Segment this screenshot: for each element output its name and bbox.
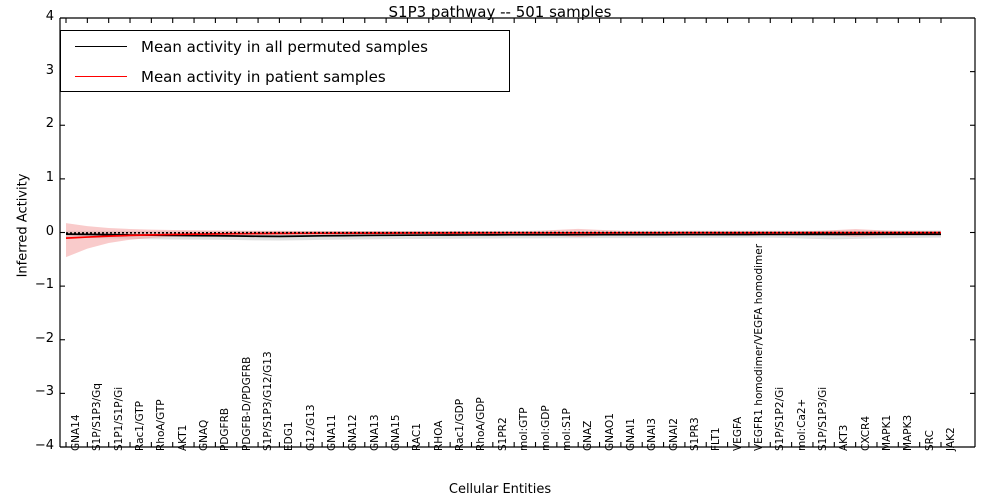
legend-label-patient: Mean activity in patient samples (141, 68, 386, 86)
confidence-band-patient (66, 223, 941, 257)
legend-item-permuted: Mean activity in all permuted samples (61, 31, 509, 62)
legend-label-permuted: Mean activity in all permuted samples (141, 38, 428, 56)
legend: Mean activity in all permuted samples Me… (60, 30, 510, 92)
figure: S1P3 pathway -- 501 samples Inferred Act… (0, 0, 1000, 500)
legend-swatch-patient (75, 76, 127, 77)
legend-swatch-permuted (75, 46, 127, 47)
legend-item-patient: Mean activity in patient samples (61, 61, 509, 92)
